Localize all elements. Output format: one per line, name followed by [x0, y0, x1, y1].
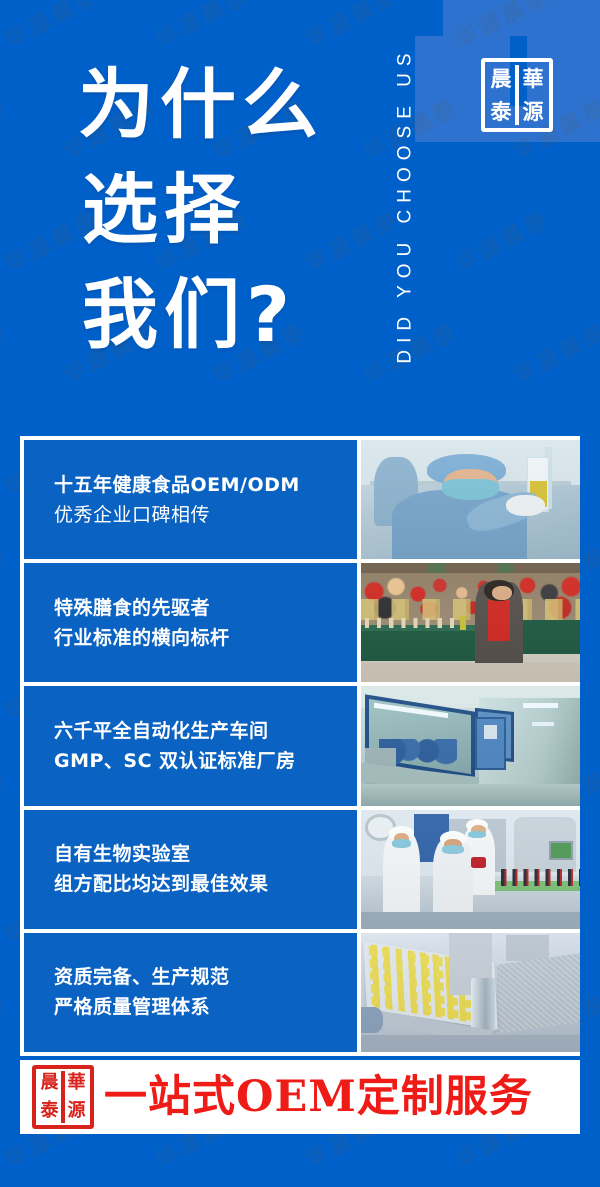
footer-slogan: 一站式OEM定制服务 — [104, 1076, 533, 1119]
card-text-block: 十五年健康食品OEM/ODM 优秀企业口碑相传 — [24, 440, 357, 559]
card-text-block: 特殊膳食的先驱者 行业标准的横向标杆 — [24, 563, 357, 682]
seal-char-top-right: 華 — [517, 62, 549, 95]
headline-line-1: 为什么 — [78, 52, 324, 157]
headline-line-3: 我们? — [78, 262, 324, 367]
vertical-english-text: DID YOU CHOOSE US — [395, 46, 417, 363]
footer-seal-char-bottom-right: 源 — [63, 1097, 90, 1125]
card-line-1: 特殊膳食的先驱者 — [54, 593, 357, 623]
card-line-2: 组方配比均达到最佳效果 — [54, 869, 357, 899]
watermark-text: 华源晨泰 — [0, 985, 13, 1062]
card-line-2: 严格质量管理体系 — [54, 992, 357, 1022]
filling-line-workers-photo — [361, 810, 580, 929]
cleanroom-corridor-photo — [361, 686, 580, 805]
watermark-text: 华源晨泰 — [0, 761, 13, 838]
card-line-1: 资质完备、生产规范 — [54, 962, 357, 992]
card-line-1: 自有生物实验室 — [54, 839, 357, 869]
list-item: 自有生物实验室 组方配比均达到最佳效果 — [24, 810, 580, 929]
list-item: 六千平全自动化生产车间 GMP、SC 双认证标准厂房 — [24, 686, 580, 805]
promotional-poster: 为什么 选择 我们? DID YOU CHOOSE US 晨 華 泰 源 十五年… — [0, 0, 600, 1187]
seal-char-bottom-right: 源 — [517, 95, 549, 128]
brand-seal-logo: 晨 華 泰 源 — [481, 58, 553, 132]
watermark-text: 华源晨泰 — [449, 201, 556, 278]
list-item: 特殊膳食的先驱者 行业标准的横向标杆 — [24, 563, 580, 682]
feature-card-list: 十五年健康食品OEM/ODM 优秀企业口碑相传 特殊膳食的先驱者 行业标准的横向… — [20, 436, 580, 1056]
headline-line-2: 选择 — [78, 157, 324, 262]
seal-char-top-left: 晨 — [485, 62, 517, 95]
watermark-text: 华源晨泰 — [449, 0, 556, 55]
footer-seal-char-top-left: 晨 — [36, 1069, 63, 1097]
card-line-2: 行业标准的横向标杆 — [54, 623, 357, 653]
footer-seal-char-top-right: 華 — [63, 1069, 90, 1097]
watermark-text: 华源晨泰 — [0, 0, 105, 55]
list-item: 十五年健康食品OEM/ODM 优秀企业口碑相传 — [24, 440, 580, 559]
blister-packaging-photo — [361, 933, 580, 1052]
card-line-1: 六千平全自动化生产车间 — [54, 716, 357, 746]
card-line-2: 优秀企业口碑相传 — [54, 500, 357, 530]
lab-technician-photo — [361, 440, 580, 559]
seal-char-bottom-left: 泰 — [485, 95, 517, 128]
watermark-text: 华源晨泰 — [0, 313, 13, 390]
watermark-text: 华源晨泰 — [0, 89, 13, 166]
footer-banner: 晨 華 泰 源 一站式OEM定制服务 — [20, 1060, 580, 1134]
watermark-text: 华源晨泰 — [507, 313, 600, 390]
list-item: 资质完备、生产规范 严格质量管理体系 — [24, 933, 580, 1052]
footer-brand-seal: 晨 華 泰 源 — [32, 1065, 94, 1129]
page-title: 为什么 选择 我们? — [78, 52, 324, 367]
card-text-block: 资质完备、生产规范 严格质量管理体系 — [24, 933, 357, 1052]
card-line-1: 十五年健康食品OEM/ODM — [54, 470, 357, 500]
watermark-text: 华源晨泰 — [0, 537, 13, 614]
card-text-block: 自有生物实验室 组方配比均达到最佳效果 — [24, 810, 357, 929]
vertical-english-caption: DID YOU CHOOSE US — [386, 10, 426, 400]
footer-seal-char-bottom-left: 泰 — [36, 1097, 63, 1125]
conference-audience-photo — [361, 563, 580, 682]
card-line-2: GMP、SC 双认证标准厂房 — [54, 746, 357, 776]
card-text-block: 六千平全自动化生产车间 GMP、SC 双认证标准厂房 — [24, 686, 357, 805]
watermark-text: 华源晨泰 — [149, 0, 256, 55]
